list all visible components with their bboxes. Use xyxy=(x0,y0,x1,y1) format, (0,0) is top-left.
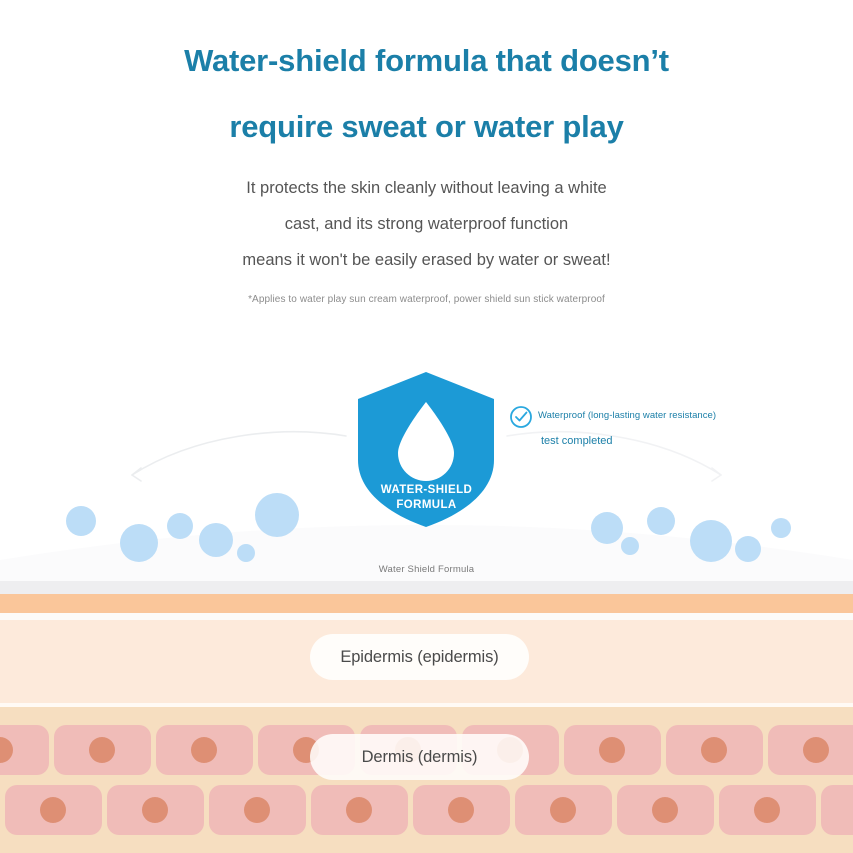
bubble xyxy=(771,518,791,538)
page-title: Water-shield formula that doesn’t requir… xyxy=(0,28,853,160)
bubble xyxy=(120,524,158,562)
bubble xyxy=(66,506,96,536)
skin-layer-stratum-orange xyxy=(0,594,853,613)
label-pill-dermis: Dermis (dermis) xyxy=(310,734,529,780)
bubble xyxy=(237,544,255,562)
bubble xyxy=(167,513,193,539)
bubble xyxy=(690,520,732,562)
body-line-1: It protects the skin cleanly without lea… xyxy=(0,170,853,206)
headline-line-2: require sweat or water play xyxy=(0,94,853,160)
water-shield-illustration: WATER-SHIELD FORMULA xyxy=(0,355,853,585)
body-line-3: means it won't be easily erased by water… xyxy=(0,242,853,278)
illustration-svg xyxy=(0,355,853,585)
callout-line-2: test completed xyxy=(541,435,838,447)
dermis-cell-row-2 xyxy=(0,785,853,835)
skin-layer-surface-grey xyxy=(0,581,853,594)
curved-arrow-left xyxy=(132,432,346,475)
waterproof-callout: Waterproof (long-lasting water resistanc… xyxy=(538,409,838,447)
bubble xyxy=(735,536,761,562)
body-line-2: cast, and its strong waterproof function xyxy=(0,206,853,242)
curved-arrow-right-head xyxy=(712,468,721,481)
bubble xyxy=(255,493,299,537)
bubble xyxy=(591,512,623,544)
check-circle-icon xyxy=(509,405,533,429)
curved-arrow-left-head xyxy=(132,468,141,481)
bubble xyxy=(199,523,233,557)
headline-line-1: Water-shield formula that doesn’t xyxy=(0,28,853,94)
bubble xyxy=(647,507,675,535)
callout-line-1: Waterproof (long-lasting water resistanc… xyxy=(538,409,838,423)
page-root: Water-shield formula that doesn’t requir… xyxy=(0,0,853,853)
skin-layer-gap-upper xyxy=(0,613,853,620)
label-pill-epidermis: Epidermis (epidermis) xyxy=(310,634,529,680)
footnote: *Applies to water play sun cream waterpr… xyxy=(0,294,853,305)
dermis-cell-pattern xyxy=(0,707,853,853)
bubble xyxy=(621,537,639,555)
body-copy: It protects the skin cleanly without lea… xyxy=(0,170,853,278)
illustration-caption: Water Shield Formula xyxy=(0,564,853,575)
